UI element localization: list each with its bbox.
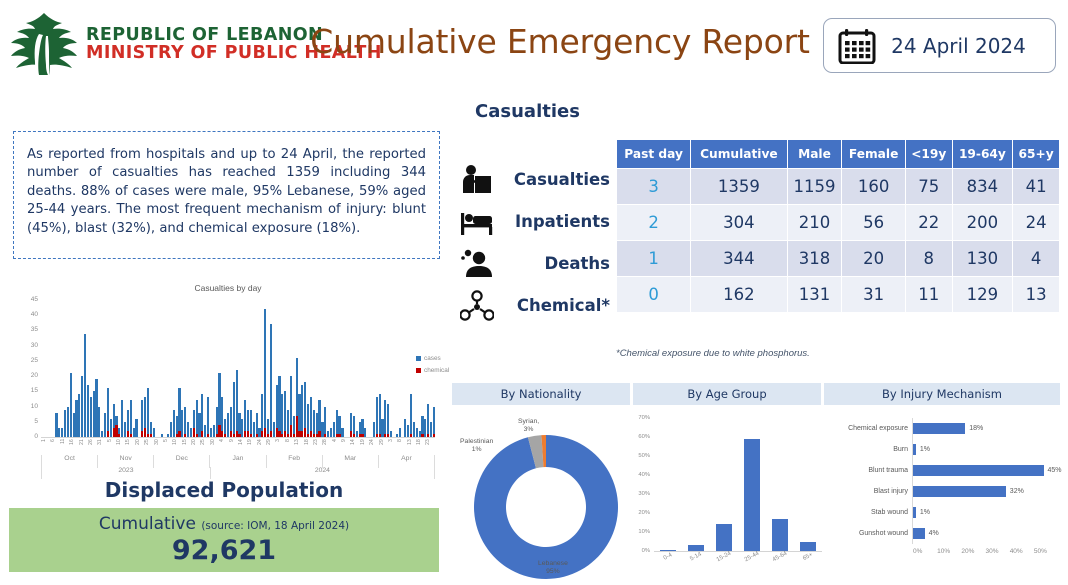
injury-track: 1% [912, 439, 1064, 460]
table-cell: 56 [842, 205, 906, 241]
table-row: 13443182081304 [617, 241, 1060, 277]
donut-slice-label: Lebanese95% [538, 560, 568, 576]
table-cell: 1359 [691, 169, 787, 205]
table-row-label: Chemical* [452, 284, 610, 326]
table-column-header: <19y [905, 140, 952, 169]
table-body: 3135911591607583441230421056222002413443… [617, 169, 1060, 313]
table-cell: 1159 [787, 169, 842, 205]
injury-label: Blunt trauma [832, 467, 912, 474]
table-cell: 130 [952, 241, 1013, 277]
chart-day-tick: 20 [135, 439, 144, 455]
age-chart-column [710, 418, 738, 551]
table-cell: 210 [787, 205, 842, 241]
chart-y-tick: 20 [16, 372, 38, 379]
age-chart-y-tick: 50% [630, 453, 650, 459]
molecule-icon [460, 289, 494, 321]
chart-day-tick: 14 [350, 439, 359, 455]
injury-track: 45% [912, 460, 1064, 481]
chart-day-tick: 3 [275, 439, 284, 455]
chart-day-tick: 31 [97, 439, 106, 455]
chart-y-tick: 15 [16, 387, 38, 394]
injury-label: Chemical exposure [832, 425, 912, 432]
chart-day-tick: 14 [238, 439, 247, 455]
injury-track: 4% [912, 523, 1064, 544]
chart-day-tick: 15 [125, 439, 134, 455]
table-cell: 4 [1013, 241, 1060, 277]
injury-value: 4% [929, 530, 939, 537]
table-header-row: Past dayCumulativeMaleFemale<19y19-64y65… [617, 140, 1060, 169]
injury-x-ticks: 0%10%20%30%40%50% [913, 548, 1058, 555]
table-cell: 22 [905, 205, 952, 241]
chart-day-tick: 3 [388, 439, 397, 455]
chart-day-tick: 20 [191, 439, 200, 455]
table-row: 3135911591607583441 [617, 169, 1060, 205]
chart-day-tick: 30 [210, 439, 219, 455]
table-cell: 344 [691, 241, 787, 277]
table-cell: 8 [905, 241, 952, 277]
injury-row: Blunt trauma45% [832, 460, 1064, 481]
chart-title: Casualties by day [8, 283, 448, 293]
donut-slice-label: Palestinian1% [460, 438, 493, 454]
chart-day-tick: 23 [313, 439, 322, 455]
age-chart-column [654, 418, 682, 551]
chart-day-tick: 4 [219, 439, 228, 455]
panel-header-nationality: By Nationality [452, 383, 630, 405]
injury-bar [913, 528, 925, 539]
age-chart-column [794, 418, 822, 551]
donut-slice-label: Syrian,3% [518, 418, 539, 434]
chart-day-tick: 29 [266, 439, 275, 455]
casualties-heading: Casualties [455, 101, 600, 122]
injury-label: Gunshot wound [832, 530, 912, 537]
injury-track: 32% [912, 481, 1064, 502]
injury-bar [913, 444, 916, 455]
age-chart-y-tick: 40% [630, 472, 650, 478]
chart-day-tick: 19 [247, 439, 256, 455]
table-column-header: Cumulative [691, 140, 787, 169]
chart-day-tick: 4 [332, 439, 341, 455]
injury-label: Burn [832, 446, 912, 453]
chart-legend: caseschemical [416, 355, 449, 379]
chart-day-tick: 24 [257, 439, 266, 455]
chart-day-tick: 11 [60, 439, 69, 455]
donut-slice [474, 435, 618, 579]
narrative-text: As reported from hospitals and up to 24 … [27, 146, 426, 238]
table-cell: 162 [691, 277, 787, 313]
chart-plot-area [41, 300, 435, 437]
chart-day-tick: 1 [41, 439, 50, 455]
legend-item: cases [416, 355, 449, 362]
narrative-summary-box: As reported from hospitals and up to 24 … [13, 131, 440, 259]
injury-row: Chemical exposure18% [832, 418, 1064, 439]
table-cell: 75 [905, 169, 952, 205]
table-cell: 0 [617, 277, 691, 313]
legend-swatch [416, 368, 421, 373]
age-chart-y-tick: 30% [630, 491, 650, 497]
injury-axis-tick: 0% [913, 548, 937, 555]
table-row-label: Inpatients [452, 200, 610, 242]
chart-y-tick: 0 [16, 433, 38, 440]
chart-day-tick: 24 [369, 439, 378, 455]
chart-x-ticks: 1611162126315101520253051015202530491419… [41, 439, 435, 455]
age-chart-column [766, 418, 794, 551]
panel-header-age-group: By Age Group [633, 383, 821, 405]
age-chart-y-tick: 10% [630, 529, 650, 535]
injury-mechanism-chart: Chemical exposure18%Burn1%Blunt trauma45… [832, 414, 1064, 580]
age-chart-x-ticks: 0-45-1415-2425-4445-6465+ [654, 554, 822, 560]
chart-day-tick: 23 [425, 439, 434, 455]
injury-value: 1% [920, 509, 930, 516]
legend-label: cases [424, 355, 441, 362]
table-cell: 1 [617, 241, 691, 277]
injury-axis-tick: 40% [1010, 548, 1034, 555]
chart-day-tick: 15 [182, 439, 191, 455]
age-chart-column [682, 418, 710, 551]
row-label-text: Deaths [545, 254, 610, 273]
chart-y-tick: 45 [16, 296, 38, 303]
table-cell: 24 [1013, 205, 1060, 241]
displaced-population-title: Displaced Population [8, 478, 440, 502]
injury-bar [913, 507, 916, 518]
table-column-header: Male [787, 140, 842, 169]
age-chart-bar [744, 439, 760, 551]
age-chart-bar [716, 524, 732, 551]
chart-day-tick: 13 [407, 439, 416, 455]
chart-axis-line [41, 437, 435, 438]
row-label-text: Inpatients [515, 212, 610, 231]
chart-day-tick: 25 [200, 439, 209, 455]
breakdown-panel-headers: By Nationality By Age Group By Injury Me… [452, 383, 1060, 405]
table-column-header: 65+y [1013, 140, 1060, 169]
page-header: REPUBLIC OF LEBANON MINISTRY OF PUBLIC H… [0, 0, 1068, 92]
injury-row: Burn1% [832, 439, 1064, 460]
chemical-footnote: *Chemical exposure due to white phosphor… [616, 348, 810, 359]
chart-y-tick: 35 [16, 326, 38, 333]
table-cell: 41 [1013, 169, 1060, 205]
hospital-bed-icon [460, 205, 494, 237]
table-cell: 304 [691, 205, 787, 241]
casualties-table: Past dayCumulativeMaleFemale<19y19-64y65… [616, 139, 1060, 313]
legend-item: chemical [416, 367, 449, 374]
chart-y-tick: 25 [16, 357, 38, 364]
casualties-row-labels: CasualtiesInpatientsDeathsChemical* [452, 158, 610, 326]
table-row: 2304210562220024 [617, 205, 1060, 241]
injury-bar [913, 465, 1044, 476]
chart-y-tick: 5 [16, 418, 38, 425]
injury-axis-tick: 10% [937, 548, 961, 555]
row-label-text: Chemical* [517, 296, 610, 315]
nationality-donut-chart: Lebanese95%Syrian,3%Palestinian1% [460, 412, 632, 580]
displaced-population-box: Cumulative (source: IOM, 18 April 2024) … [9, 508, 439, 572]
table-cell: 2 [617, 205, 691, 241]
displaced-value: 92,621 [172, 535, 276, 566]
table-cell: 20 [842, 241, 906, 277]
table-row-label: Deaths [452, 242, 610, 284]
chart-day-tick: 8 [285, 439, 294, 455]
table-cell: 160 [842, 169, 906, 205]
page-title: Cumulative Emergency Report [300, 22, 820, 61]
chart-day-tick: 29 [379, 439, 388, 455]
table-cell: 31 [842, 277, 906, 313]
report-date-badge: 24 April 2024 [823, 18, 1056, 73]
chart-day-tick: 9 [229, 439, 238, 455]
injury-track: 1% [912, 502, 1064, 523]
age-chart-bar [772, 519, 788, 551]
chart-bars [41, 300, 435, 437]
injury-axis-tick: 50% [1034, 548, 1058, 555]
injured-person-icon [460, 163, 494, 195]
casualties-by-day-chart: Casualties by day 051015202530354045 161… [8, 283, 448, 473]
table-row: 0162131311112913 [617, 277, 1060, 313]
chart-day-tick: 21 [79, 439, 88, 455]
table-column-header: Past day [617, 140, 691, 169]
chart-day-tick: 30 [154, 439, 163, 455]
chart-day-tick: 26 [88, 439, 97, 455]
table-cell: 131 [787, 277, 842, 313]
table-column-header: 19-64y [952, 140, 1013, 169]
table-cell: 200 [952, 205, 1013, 241]
cumulative-word: Cumulative [99, 514, 196, 534]
table-cell: 129 [952, 277, 1013, 313]
age-chart-y-tick: 0% [630, 548, 650, 554]
injury-value: 18% [969, 425, 983, 432]
legend-swatch [416, 356, 421, 361]
injury-axis-tick: 20% [961, 548, 985, 555]
panel-header-injury-mechanism: By Injury Mechanism [824, 383, 1060, 405]
death-person-icon [460, 247, 494, 279]
chart-day-tick: 16 [69, 439, 78, 455]
chart-day-tick: 19 [360, 439, 369, 455]
chart-day-tick: 18 [304, 439, 313, 455]
chart-day-tick: 5 [107, 439, 116, 455]
chart-y-tick: 40 [16, 311, 38, 318]
injury-label: Stab wound [832, 509, 912, 516]
chart-day-tick: 8 [397, 439, 406, 455]
injury-row: Gunshot wound4% [832, 523, 1064, 544]
age-chart-bars [654, 418, 822, 551]
chart-day-tick: 9 [341, 439, 350, 455]
injury-track: 18% [912, 418, 1064, 439]
age-group-chart: 0%10%20%30%40%50%60%70% 0-45-1415-2425-4… [630, 412, 826, 580]
injury-row: Blast injury32% [832, 481, 1064, 502]
chart-y-tick: 30 [16, 342, 38, 349]
injury-bar [913, 423, 965, 434]
injury-row: Stab wound1% [832, 502, 1064, 523]
injury-value: 32% [1010, 488, 1024, 495]
calendar-icon [838, 28, 876, 64]
age-chart-y-tick: 60% [630, 434, 650, 440]
chart-day-tick: 28 [322, 439, 331, 455]
displaced-cumulative-label: Cumulative (source: IOM, 18 April 2024) [99, 514, 349, 534]
report-date: 24 April 2024 [876, 34, 1041, 58]
chart-y-tick: 10 [16, 403, 38, 410]
table-cell: 3 [617, 169, 691, 205]
cedar-tree-icon [8, 10, 80, 78]
table-row-label: Casualties [452, 158, 610, 200]
chart-day-tick: 10 [172, 439, 181, 455]
age-chart-column [738, 418, 766, 551]
age-chart-y-tick: 70% [630, 415, 650, 421]
legend-label: chemical [424, 367, 449, 374]
table-cell: 13 [1013, 277, 1060, 313]
injury-label: Blast injury [832, 488, 912, 495]
chart-day-tick: 25 [144, 439, 153, 455]
age-chart-y-tick: 20% [630, 510, 650, 516]
injury-value: 45% [1048, 467, 1062, 474]
row-label-text: Casualties [514, 170, 610, 189]
displaced-source: (source: IOM, 18 April 2024) [201, 520, 349, 532]
chart-day-tick: 6 [50, 439, 59, 455]
table-cell: 834 [952, 169, 1013, 205]
injury-axis-tick: 30% [986, 548, 1010, 555]
table-cell: 11 [905, 277, 952, 313]
injury-bar [913, 486, 1006, 497]
table-cell: 318 [787, 241, 842, 277]
injury-value: 1% [920, 446, 930, 453]
chart-day-tick: 5 [163, 439, 172, 455]
chart-day-tick: 18 [416, 439, 425, 455]
injury-bars: Chemical exposure18%Burn1%Blunt trauma45… [832, 418, 1064, 544]
chart-day-tick: 10 [116, 439, 125, 455]
table-column-header: Female [842, 140, 906, 169]
chart-day-tick: 13 [294, 439, 303, 455]
